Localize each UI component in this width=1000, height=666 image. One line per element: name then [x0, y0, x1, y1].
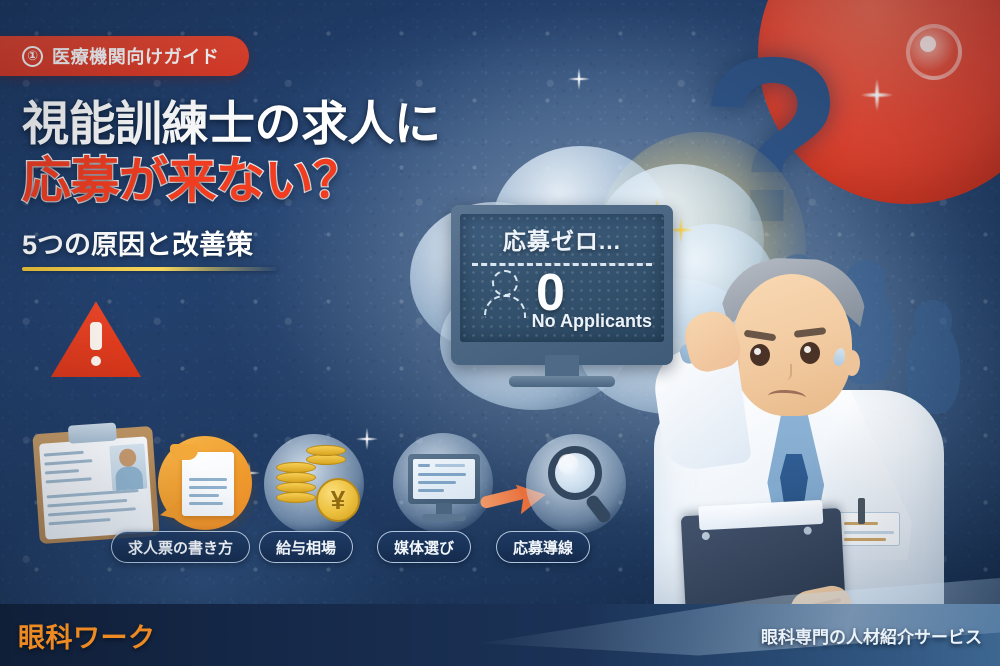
feature-pill-0[interactable]: 求人票の書き方 — [111, 531, 250, 563]
subtitle-underline — [22, 267, 277, 271]
ear-right — [844, 350, 860, 376]
doctor-illustration — [640, 240, 960, 640]
bubble-highlight — [906, 24, 962, 80]
footer-bar: 眼科ワーク 眼科専門の人材紹介サービス — [0, 604, 1000, 666]
feature-pill-1[interactable]: 給与相場 — [259, 531, 353, 563]
feature-labels-row: 求人票の書き方 給与相場 媒体選び 応募導線 — [0, 531, 640, 565]
monitor-listing-icon — [396, 436, 490, 530]
name-badge — [838, 512, 900, 546]
headline-block: 視能訓練士の求人に 応募が来ない？ 5つの原因と改善策 — [22, 96, 492, 271]
eye-right — [800, 342, 820, 364]
monitor-base — [509, 376, 615, 387]
clipboard-resume-icon — [32, 426, 159, 544]
coins-yen-icon: ¥ — [264, 434, 364, 534]
document-speech-bubble-icon — [158, 436, 252, 530]
headline-subtitle: 5つの原因と改善策 — [22, 223, 253, 262]
headline-line-1: 視能訓練士の求人に — [22, 96, 492, 151]
badge-label: 医療機関向けガイド — [52, 43, 219, 69]
hero-banner: ? — [0, 0, 1000, 666]
eye-left — [750, 344, 770, 366]
feature-pill-3[interactable]: 応募導線 — [496, 531, 590, 563]
feature-pill-2[interactable]: 媒体選び — [377, 531, 471, 563]
applicant-count-label: No Applicants — [460, 311, 664, 332]
brand-logo[interactable]: 眼科ワーク — [18, 616, 156, 655]
headline-line-2: 応募が来ない？ — [22, 153, 492, 211]
magnifier-icon — [526, 434, 626, 534]
resume-photo — [109, 444, 147, 491]
nose — [780, 364, 792, 380]
warning-triangle-icon — [48, 298, 144, 382]
feature-icons-row: ¥ — [18, 428, 638, 540]
guide-badge: ① 医療機関向けガイド — [0, 36, 249, 76]
sparkle-icon — [854, 72, 900, 118]
footer-tagline: 眼科専門の人材紹介サービス — [761, 623, 982, 648]
yen-symbol: ¥ — [316, 478, 360, 522]
sparkle-icon — [562, 62, 596, 96]
pen-icon — [858, 498, 865, 524]
badge-number: ① — [22, 46, 43, 67]
